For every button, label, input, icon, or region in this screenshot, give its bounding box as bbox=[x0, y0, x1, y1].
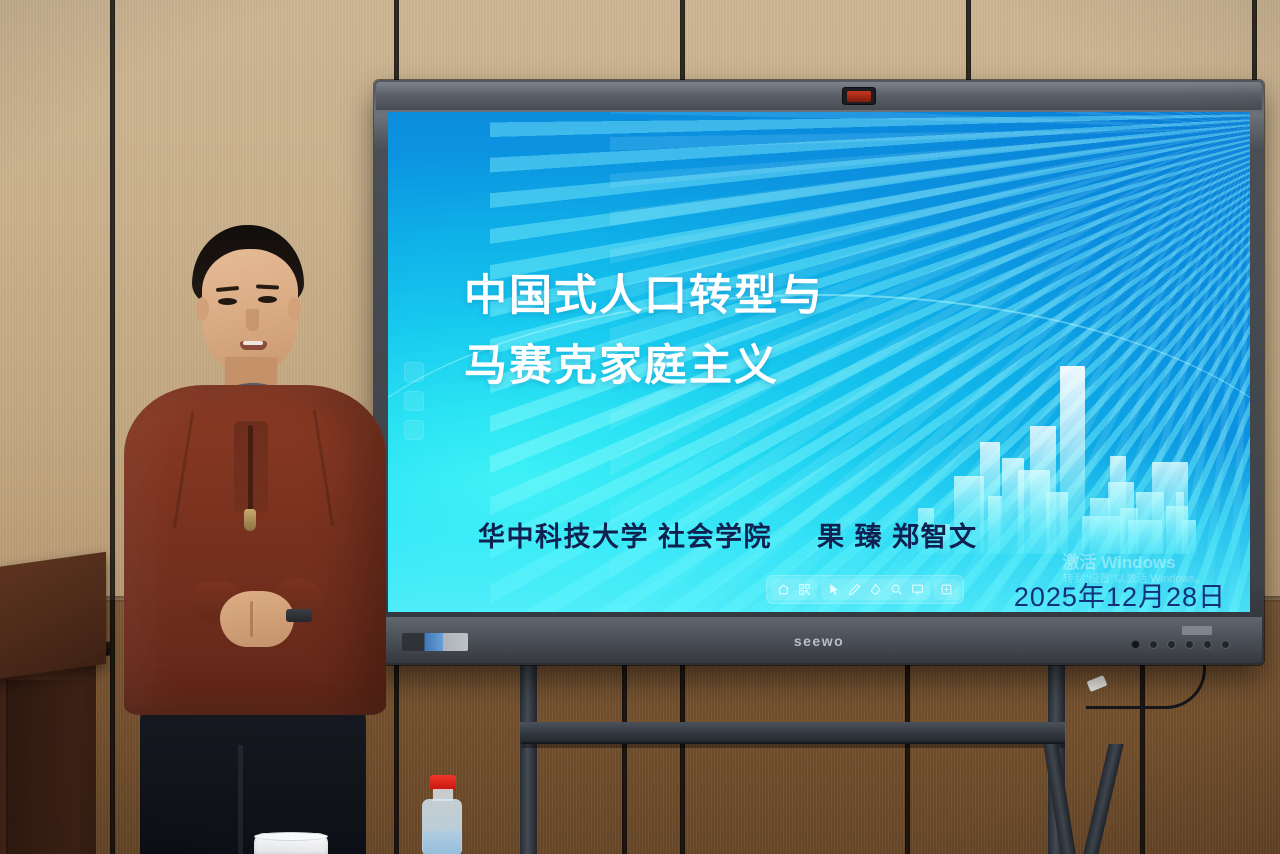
display-brand-logo: seewo bbox=[794, 633, 844, 649]
cursor-icon[interactable] bbox=[824, 581, 843, 598]
ghost-button-2-icon[interactable] bbox=[404, 391, 424, 411]
toolbar-group-more[interactable] bbox=[934, 579, 959, 600]
toolbar-group-left[interactable] bbox=[771, 579, 817, 600]
qr-code-icon[interactable] bbox=[795, 581, 814, 598]
stand-crossbar-shadow bbox=[522, 742, 1065, 748]
hardware-button[interactable] bbox=[1167, 640, 1176, 649]
zipper-pull bbox=[244, 509, 256, 531]
bottle-label bbox=[423, 831, 461, 854]
hardware-button-row[interactable] bbox=[1131, 640, 1230, 649]
lectern-panel bbox=[6, 680, 80, 854]
presenter-eye-left bbox=[218, 298, 237, 305]
paper-cup-rim bbox=[254, 832, 328, 841]
magnifier-icon[interactable] bbox=[887, 581, 906, 598]
hand-separation bbox=[250, 601, 253, 637]
toolbar-group-tools[interactable] bbox=[821, 579, 930, 600]
whiteboard-icon[interactable] bbox=[908, 581, 927, 598]
presenter-eye-right bbox=[258, 296, 277, 303]
stand-post-left bbox=[520, 665, 537, 854]
hardware-button[interactable] bbox=[1203, 640, 1212, 649]
hardware-button[interactable] bbox=[1185, 640, 1194, 649]
slide-title: 中国式人口转型与 马赛克家庭主义 bbox=[464, 262, 984, 401]
port-label-sticker bbox=[402, 633, 468, 651]
power-button[interactable] bbox=[1131, 640, 1140, 649]
slide-title-line-2: 马赛克家庭主义 bbox=[464, 332, 984, 402]
presenter-nose bbox=[246, 309, 259, 331]
lectern-top bbox=[0, 552, 106, 681]
presenter-hands bbox=[220, 591, 294, 647]
presenter bbox=[110, 225, 400, 854]
floating-toolbar[interactable] bbox=[766, 575, 964, 604]
slide-affiliation: 华中科技大学 社会学院 果 臻 郑智文 bbox=[478, 515, 978, 554]
slide-title-line-1: 中国式人口转型与 bbox=[464, 262, 984, 332]
camera-indicator-led bbox=[847, 91, 871, 102]
display-top-bezel bbox=[376, 82, 1262, 110]
button-label-sticker bbox=[1182, 626, 1212, 635]
more-tools-icon[interactable] bbox=[937, 581, 956, 598]
ghost-button-3-icon[interactable] bbox=[404, 420, 424, 440]
trouser-crease bbox=[238, 745, 243, 854]
photo-scene: 中国式人口转型与 马赛克家庭主义 激活 Windows 转到"设置"以激活 Wi… bbox=[0, 0, 1280, 854]
hardware-button[interactable] bbox=[1149, 640, 1158, 649]
lapel-microphone bbox=[286, 609, 312, 622]
stand-crossbar bbox=[520, 722, 1065, 744]
screen-side-buttons[interactable] bbox=[404, 362, 424, 440]
presenter-ear-right bbox=[288, 297, 301, 321]
presenter-ear-left bbox=[196, 297, 209, 321]
camera-module bbox=[842, 87, 876, 105]
bottle-cap bbox=[430, 775, 456, 790]
eraser-icon[interactable] bbox=[866, 581, 885, 598]
interactive-flat-panel[interactable]: 中国式人口转型与 马赛克家庭主义 激活 Windows 转到"设置"以激活 Wi… bbox=[374, 80, 1264, 665]
slide-date: 2025年12月28日 bbox=[1014, 575, 1226, 612]
ghost-button-1-icon[interactable] bbox=[404, 362, 424, 382]
home-icon[interactable] bbox=[774, 581, 793, 598]
pen-icon[interactable] bbox=[845, 581, 864, 598]
presenter-teeth bbox=[243, 341, 263, 345]
hardware-button[interactable] bbox=[1221, 640, 1230, 649]
water-bottle bbox=[420, 775, 464, 854]
presenter-trousers bbox=[140, 695, 366, 854]
sweater-zipper bbox=[248, 425, 253, 511]
display-screen[interactable]: 中国式人口转型与 马赛克家庭主义 激活 Windows 转到"设置"以激活 Wi… bbox=[388, 112, 1250, 612]
